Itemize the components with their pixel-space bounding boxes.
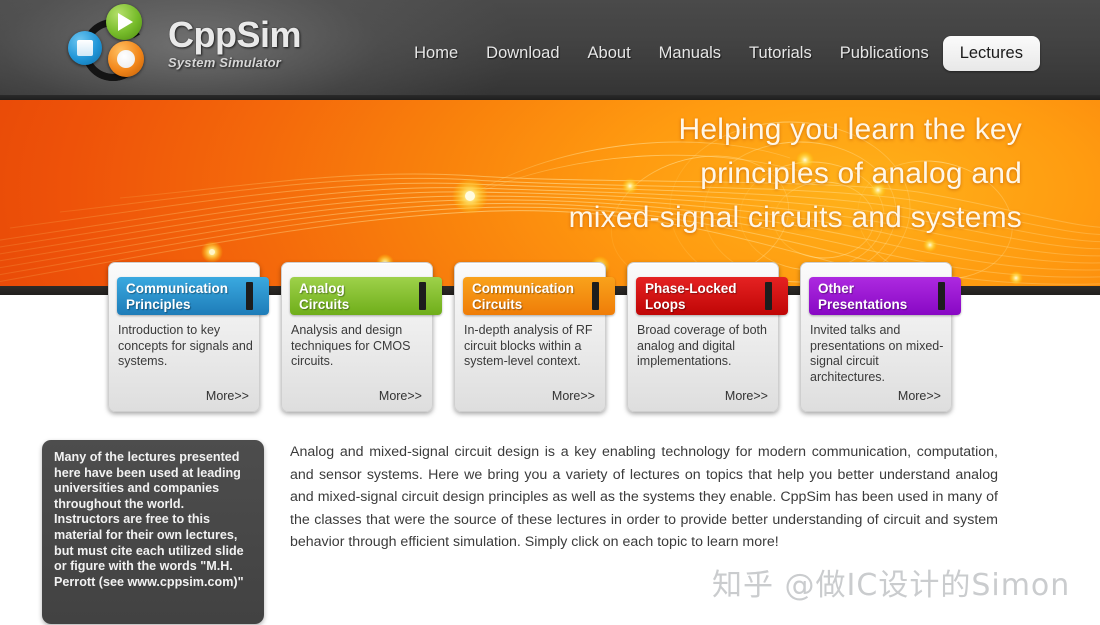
intro-paragraph: Analog and mixed-signal circuit design i… [290, 441, 998, 554]
card-communication-circuits[interactable]: Communication Circuits In-depth analysis… [454, 262, 606, 412]
card-description: Invited talks and presentations on mixed… [810, 323, 946, 385]
orange-record-icon [108, 41, 144, 77]
card-title-line2: Circuits [472, 297, 522, 312]
banner-line-1: Helping you learn the key [569, 108, 1022, 152]
card-title-line1: Other [818, 281, 854, 296]
card-more-link[interactable]: More>> [206, 389, 249, 403]
card-title-line1: Analog [299, 281, 345, 296]
card-header: Other Presentations [809, 277, 961, 315]
card-bookmark-icon [765, 282, 772, 310]
nav-item-tutorials[interactable]: Tutorials [735, 37, 826, 70]
card-more-link[interactable]: More>> [725, 389, 768, 403]
logo-subtitle: System Simulator [168, 55, 301, 70]
nav-item-download[interactable]: Download [472, 37, 573, 70]
nav-item-home[interactable]: Home [400, 37, 472, 70]
banner-line-3: mixed-signal circuits and systems [569, 196, 1022, 240]
card-title-line1: Phase-Locked [645, 281, 737, 296]
card-title-line2: Loops [645, 297, 686, 312]
card-bookmark-icon [592, 282, 599, 310]
banner-line-2: principles of analog and [569, 152, 1022, 196]
card-other-presentations[interactable]: Other Presentations Invited talks and pr… [800, 262, 952, 412]
card-more-link[interactable]: More>> [379, 389, 422, 403]
green-play-icon [106, 4, 142, 40]
card-bookmark-icon [419, 282, 426, 310]
card-header: Communication Principles [117, 277, 269, 315]
card-more-link[interactable]: More>> [552, 389, 595, 403]
card-header: Phase-Locked Loops [636, 277, 788, 315]
card-header: Communication Circuits [463, 277, 615, 315]
main-navigation: Home Download About Manuals Tutorials Pu… [400, 36, 1040, 71]
card-more-link[interactable]: More>> [898, 389, 941, 403]
nav-item-manuals[interactable]: Manuals [645, 37, 735, 70]
site-logo[interactable]: CppSim System Simulator [60, 0, 360, 100]
card-bookmark-icon [246, 282, 253, 310]
card-description: Introduction to key concepts for signals… [118, 323, 254, 370]
card-communication-principles[interactable]: Communication Principles Introduction to… [108, 262, 260, 412]
cppsim-logo-mark [68, 5, 160, 95]
logo-title: CppSim [168, 16, 301, 54]
card-title-line2: Circuits [299, 297, 349, 312]
nav-item-publications[interactable]: Publications [826, 37, 943, 70]
logo-text-block: CppSim System Simulator [168, 16, 301, 70]
nav-item-lectures[interactable]: Lectures [943, 36, 1040, 71]
watermark-text: 知乎 @做IC设计的Simon [712, 560, 1070, 604]
card-title-line2: Presentations [818, 297, 907, 312]
card-phase-locked-loops[interactable]: Phase-Locked Loops Broad coverage of bot… [627, 262, 779, 412]
card-analog-circuits[interactable]: Analog Circuits Analysis and design tech… [281, 262, 433, 412]
card-description: Analysis and design techniques for CMOS … [291, 323, 427, 370]
banner-headline: Helping you learn the key principles of … [569, 108, 1022, 240]
blue-stop-icon [68, 31, 102, 65]
card-title-line1: Communication [126, 281, 228, 296]
card-title-line1: Communication [472, 281, 574, 296]
card-title-line2: Principles [126, 297, 191, 312]
card-header: Analog Circuits [290, 277, 442, 315]
card-bookmark-icon [938, 282, 945, 310]
card-description: In-depth analysis of RF circuit blocks w… [464, 323, 600, 370]
card-description: Broad coverage of both analog and digita… [637, 323, 773, 370]
site-header: CppSim System Simulator Home Download Ab… [0, 0, 1100, 100]
nav-item-about[interactable]: About [574, 37, 645, 70]
lecture-citation-note: Many of the lectures presented here have… [42, 440, 264, 624]
lecture-category-cards: Communication Principles Introduction to… [0, 262, 1100, 414]
